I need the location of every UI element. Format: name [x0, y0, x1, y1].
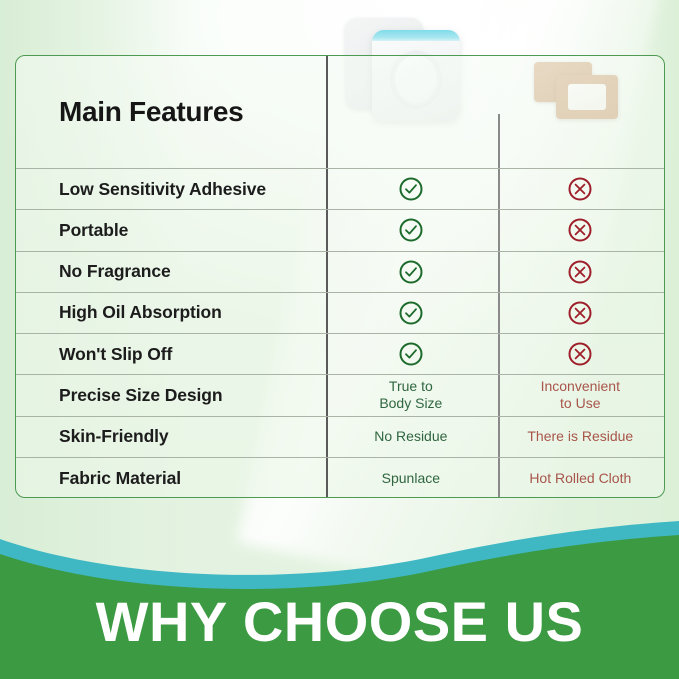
cross-icon: [567, 259, 593, 285]
feature-label: Won't Slip Off: [16, 344, 325, 365]
cell-theirs: Inconvenientto Use: [497, 375, 664, 415]
cell-ours: Spunlace: [325, 458, 496, 498]
table-row: High Oil Absorption: [16, 293, 664, 334]
check-icon: [398, 300, 424, 326]
cell-theirs: Hot Rolled Cloth: [497, 458, 664, 498]
table-row: Low Sensitivity Adhesive: [16, 169, 664, 210]
feature-label: Portable: [16, 220, 325, 241]
check-icon: [398, 259, 424, 285]
feature-label: Precise Size Design: [16, 385, 325, 406]
cell-ours: [325, 293, 496, 333]
feature-label: Fabric Material: [16, 468, 325, 489]
cell-ours: No Residue: [325, 417, 496, 457]
value-text-theirs: There is Residue: [527, 428, 633, 446]
feature-label: Low Sensitivity Adhesive: [16, 179, 325, 200]
banner-strip: WHY CHOOSE US: [0, 561, 679, 679]
check-icon: [398, 341, 424, 367]
cell-ours: [325, 210, 496, 250]
header-cell-ours: [325, 56, 496, 168]
bottom-wave-banner: WHY CHOOSE US: [0, 509, 679, 679]
feature-label: High Oil Absorption: [16, 302, 325, 323]
comparison-infographic: Main Features Low Sensitivity AdhesivePo…: [0, 0, 679, 679]
table-row: Won't Slip Off: [16, 334, 664, 375]
cell-theirs: [497, 252, 664, 292]
table-row: No Fragrance: [16, 252, 664, 293]
table-row: Skin-FriendlyNo ResidueThere is Residue: [16, 417, 664, 458]
page-title: Main Features: [16, 96, 325, 128]
table-row: Precise Size DesignTrue toBody SizeIncon…: [16, 375, 664, 416]
cross-icon: [567, 341, 593, 367]
value-text-ours: No Residue: [374, 428, 447, 446]
value-text-theirs: Hot Rolled Cloth: [529, 470, 631, 488]
table-row: Fabric MaterialSpunlaceHot Rolled Cloth: [16, 458, 664, 498]
white-patch-cyan-strip: [372, 30, 460, 41]
cross-icon: [567, 217, 593, 243]
comparison-table: Main Features Low Sensitivity AdhesivePo…: [15, 55, 665, 498]
cell-theirs: [497, 210, 664, 250]
check-icon: [398, 217, 424, 243]
cell-ours: [325, 252, 496, 292]
header-cell-theirs: [497, 56, 664, 168]
table-row: Portable: [16, 210, 664, 251]
banner-title: WHY CHOOSE US: [96, 594, 584, 650]
feature-label: Skin-Friendly: [16, 426, 325, 447]
cell-theirs: [497, 169, 664, 209]
cell-theirs: [497, 293, 664, 333]
cell-theirs: There is Residue: [497, 417, 664, 457]
cross-icon: [567, 300, 593, 326]
cell-theirs: [497, 334, 664, 374]
check-icon: [398, 176, 424, 202]
cell-ours: True toBody Size: [325, 375, 496, 415]
table-header-row: Main Features: [16, 56, 664, 169]
cell-ours: [325, 169, 496, 209]
cell-ours: [325, 334, 496, 374]
cross-icon: [567, 176, 593, 202]
value-text-theirs: Inconvenientto Use: [541, 378, 620, 413]
value-text-ours: Spunlace: [382, 470, 440, 488]
value-text-ours: True toBody Size: [379, 378, 442, 413]
feature-label: No Fragrance: [16, 261, 325, 282]
